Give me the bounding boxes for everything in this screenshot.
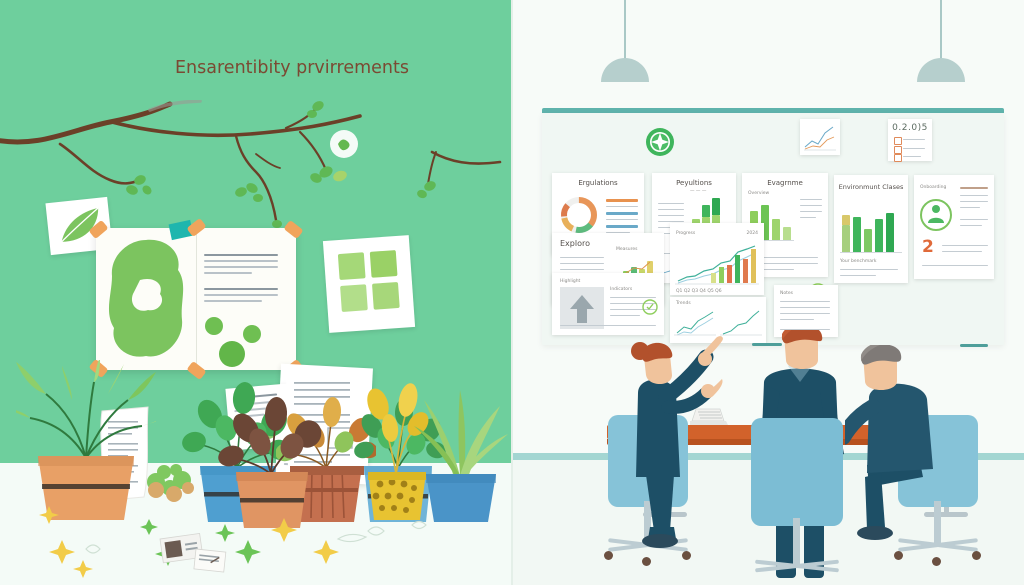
doc-title: Evagrnme <box>742 179 828 187</box>
tree-top-shapes <box>200 312 290 368</box>
grid-cell <box>372 282 400 310</box>
left-panel-green-workspace <box>0 0 512 585</box>
chair-back <box>751 418 843 526</box>
line-and-bar-chart <box>675 243 759 287</box>
pendant-lamp-right <box>917 0 965 84</box>
green-globe-leaf-icon <box>645 127 675 157</box>
hair-bun <box>631 342 649 360</box>
person-woman-pointing <box>610 335 750 565</box>
doc-title: Peyultions <box>652 179 736 187</box>
lamp-shade <box>917 58 965 82</box>
lamp-cord <box>940 0 942 60</box>
sticky-number: 0.2.0)5 <box>888 123 932 133</box>
lamp-shade <box>601 58 649 82</box>
chair-center <box>745 418 849 578</box>
lamp-cord <box>624 0 626 60</box>
green-person-circle-icon <box>918 197 954 233</box>
panel-divider <box>511 0 513 585</box>
whiteboard: 0.2.0)5 Ergulations <box>542 113 1004 345</box>
person-man-seated-right <box>845 345 975 555</box>
open-book-poster <box>96 228 296 370</box>
whiteboard-doc-summary: Onboarding 2 <box>914 175 994 279</box>
whiteboard-doc-environmunt-clases: Environmunt Clases Your benchmark <box>834 175 908 283</box>
floor-confetti <box>0 465 512 585</box>
grid-cell <box>338 252 366 280</box>
doc-title: Ergulations <box>552 179 644 187</box>
book-spine <box>196 232 197 366</box>
chair-post <box>793 518 800 566</box>
whiteboard-mini-line-chart <box>800 119 840 155</box>
grid-cell <box>370 250 398 278</box>
pendant-lamp-left <box>601 0 649 84</box>
doc-title: Environmunt Clases <box>834 183 908 192</box>
column-chart <box>840 209 902 253</box>
big-number: 2 <box>922 237 934 257</box>
right-panel-heading: Ensarentibity prvirrements <box>175 57 435 79</box>
doc-title: Exploro <box>560 239 590 248</box>
green-map-blob <box>102 236 192 364</box>
whiteboard-doc-trend: Progress 2024 Q1 Q2 Q3 Q4 Q5 Q6 <box>670 223 764 295</box>
grid-cell <box>340 284 368 312</box>
illustration-stage: Ensarentibity prvirrements 0.2.0)5 <box>0 0 1024 585</box>
chair-caster <box>932 557 941 566</box>
whiteboard-doc-arrow: Highlight Indicators <box>552 273 664 335</box>
up-arrow-icon <box>560 287 604 329</box>
four-squares-card <box>323 235 415 333</box>
whiteboard-number-note: 0.2.0)5 <box>888 119 932 161</box>
donut-chart <box>556 191 602 239</box>
